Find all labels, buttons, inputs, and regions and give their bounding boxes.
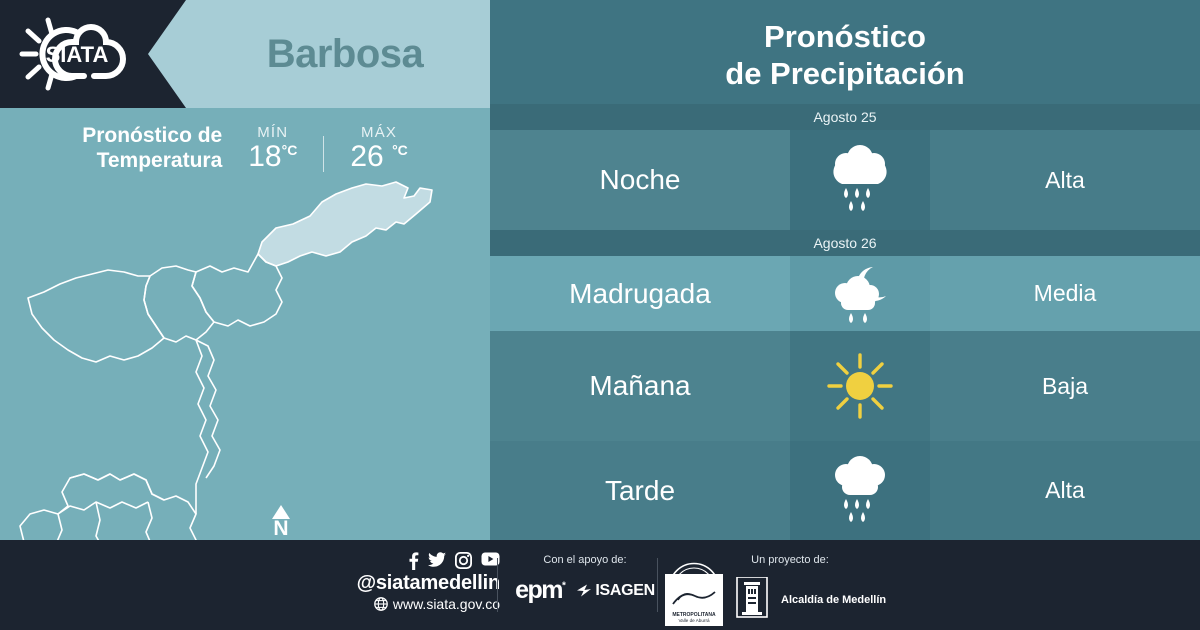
temperature-min: MÍN 18°C (248, 124, 297, 172)
forecast-period-manana: Mañana (490, 331, 790, 441)
weather-forecast-infographic: SIATA Barbosa Pronóstico de Temperatura … (0, 0, 1200, 630)
isagen-mark-icon (576, 583, 592, 598)
north-arrow: N (272, 505, 290, 537)
project-logos: METROPOLITANA Valle de Aburrá (665, 574, 915, 626)
temperature-summary: Pronóstico de Temperatura MÍN 18°C MÁX 2… (0, 112, 490, 184)
support-label: Con el apoyo de: (510, 554, 660, 566)
social-block: @siatamedellin www.siata.gov.co (300, 552, 500, 612)
footer-divider-2 (657, 558, 658, 612)
instagram-icon[interactable] (455, 552, 472, 569)
north-arrow-label: N (272, 520, 290, 537)
temperature-min-value-wrap: 18°C (248, 142, 297, 172)
city-name: Barbosa (200, 0, 490, 108)
forecast-row-manana[interactable]: Mañana Baja (490, 331, 1200, 441)
temperature-max-unit: °C (392, 142, 408, 158)
footer-divider-1 (497, 558, 498, 612)
forecast-level-noche: Alta (930, 130, 1200, 230)
temperature-max-label: MÁX (350, 124, 407, 141)
temperature-title-line2: Temperatura (82, 148, 222, 173)
forecast-period-noche: Noche (490, 130, 790, 230)
temperature-max-value-wrap: 26 °C (350, 142, 407, 172)
isagen-wordmark: ISAGEN (595, 582, 655, 600)
precipitation-title: Pronóstico de Precipitación (490, 8, 1200, 104)
moon-rain-cloud-icon (790, 256, 930, 331)
project-block: Un proyecto de: METROPOLITANA Valle de A… (665, 554, 915, 626)
forecast-level-manana: Baja (930, 331, 1200, 441)
temperature-min-label: MÍN (248, 124, 297, 141)
twitter-icon[interactable] (428, 552, 446, 568)
footer: @siatamedellin www.siata.gov.co Con el a… (0, 540, 1200, 630)
temperature-max-value: 26 (350, 140, 383, 173)
alcaldia-de-medellin-logo[interactable] (735, 577, 769, 623)
facebook-icon[interactable] (408, 552, 419, 570)
temperature-max: MÁX 26 °C (350, 124, 407, 172)
project-label: Un proyecto de: (665, 554, 915, 566)
temperature-min-unit: °C (282, 142, 298, 158)
forecast-row-tarde[interactable]: Tarde Alta (490, 441, 1200, 540)
siata-logo-text: SIATA (46, 42, 109, 67)
sun-cloud-icon: SIATA (14, 12, 134, 96)
temperature-title: Pronóstico de Temperatura (82, 123, 222, 173)
forecast-row-madrugada[interactable]: Madrugada Media (490, 256, 1200, 331)
website-url: www.siata.gov.co (393, 596, 500, 612)
map-svg (0, 180, 490, 540)
map-region-barbosa (258, 182, 432, 266)
precipitation-panel: Pronóstico de Precipitación Agosto 25 No… (490, 0, 1200, 540)
rain-cloud-heavy-icon (790, 441, 930, 540)
date-band-agosto-25: Agosto 25 (490, 104, 1200, 130)
temperature-divider (323, 136, 324, 172)
forecast-level-madrugada: Media (930, 256, 1200, 331)
temperature-min-value: 18 (248, 140, 281, 173)
social-handle[interactable]: @siatamedellin (300, 572, 500, 595)
sun-icon (790, 331, 930, 441)
forecast-level-tarde: Alta (930, 441, 1200, 540)
temperature-title-line1: Pronóstico de (82, 123, 222, 148)
rain-cloud-heavy-icon (790, 130, 930, 230)
forecast-period-madrugada: Madrugada (490, 256, 790, 331)
siata-logo-badge[interactable]: SIATA (0, 0, 148, 108)
forecast-row-noche[interactable]: Noche Alta (490, 130, 1200, 230)
aburra-valley-map[interactable]: N (0, 180, 490, 540)
epm-logo[interactable]: epm* (515, 576, 564, 605)
left-header: SIATA Barbosa (0, 0, 490, 108)
forecast-period-tarde: Tarde (490, 441, 790, 540)
alcaldia-label: Alcaldía de Medellín (781, 594, 886, 606)
social-icons (300, 552, 500, 570)
area-logo-line2: Valle de Aburrá (678, 618, 710, 623)
area-metropolitana-logo[interactable]: METROPOLITANA Valle de Aburrá (665, 574, 723, 626)
date-band-agosto-26: Agosto 26 (490, 230, 1200, 256)
temperature-panel: SIATA Barbosa Pronóstico de Temperatura … (0, 0, 490, 540)
isagen-logo[interactable]: ISAGEN (576, 582, 655, 600)
support-logos: epm* ISAGEN (510, 576, 660, 605)
website-row[interactable]: www.siata.gov.co (300, 596, 500, 612)
precipitation-title-line1: Pronóstico (764, 19, 926, 56)
support-block: Con el apoyo de: epm* ISAGEN (510, 554, 660, 605)
precipitation-title-line2: de Precipitación (725, 56, 964, 93)
globe-icon (374, 597, 388, 611)
